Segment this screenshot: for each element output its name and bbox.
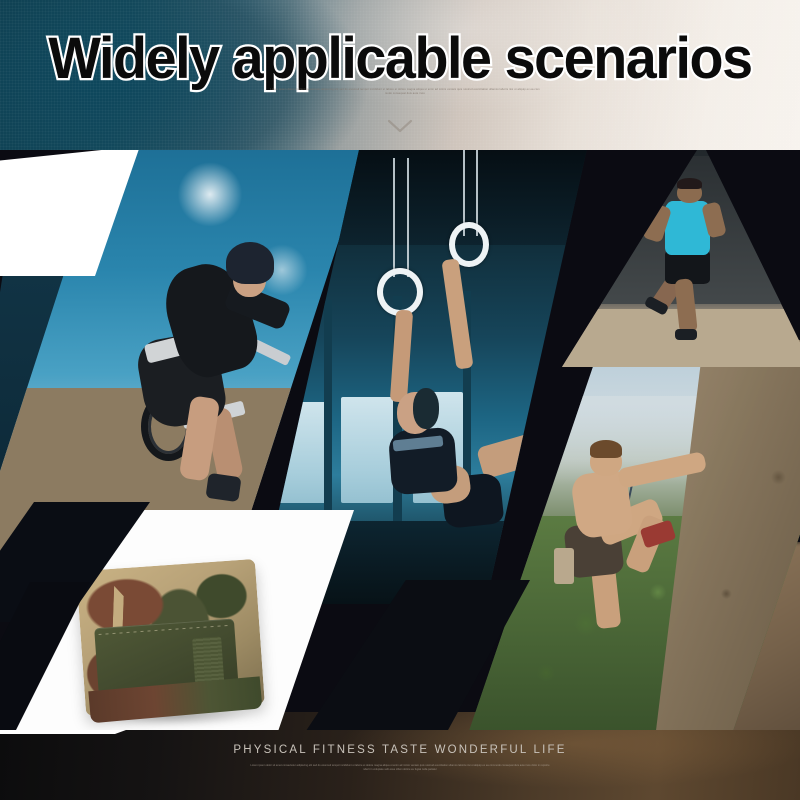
footer-micro-text: Lorem ipsum dolor sit amet consectetur a… bbox=[250, 764, 550, 778]
gym-window bbox=[341, 397, 394, 503]
scenario-collage bbox=[0, 150, 800, 730]
footer-caption: PHYSICAL FITNESS TASTE WONDERFUL LIFE bbox=[0, 744, 800, 756]
chevron-down-icon bbox=[386, 118, 414, 134]
ring-strap bbox=[393, 158, 395, 278]
camouflage-belt-pouch bbox=[76, 559, 265, 716]
gymnast-hair bbox=[413, 388, 439, 429]
gymnast-foot bbox=[532, 407, 565, 438]
running-photo bbox=[562, 150, 800, 367]
cyclist-figure bbox=[130, 236, 314, 513]
product-marketing-poster: Widely applicable scenarios Lorem ipsum … bbox=[0, 0, 800, 800]
climber-hair bbox=[590, 440, 622, 458]
runner-shoe-front bbox=[675, 329, 698, 340]
climbing-gear bbox=[554, 548, 574, 584]
header-micro-text: Lorem ipsum dolor sit amet consectetur a… bbox=[270, 88, 540, 103]
page-title: Widely applicable scenarios bbox=[16, 30, 784, 88]
runner-hair bbox=[677, 178, 702, 189]
ring-strap bbox=[407, 158, 409, 278]
gym-rig-post bbox=[324, 300, 332, 539]
cyclist-shoe bbox=[206, 473, 242, 502]
cyclist-helmet bbox=[226, 242, 274, 284]
